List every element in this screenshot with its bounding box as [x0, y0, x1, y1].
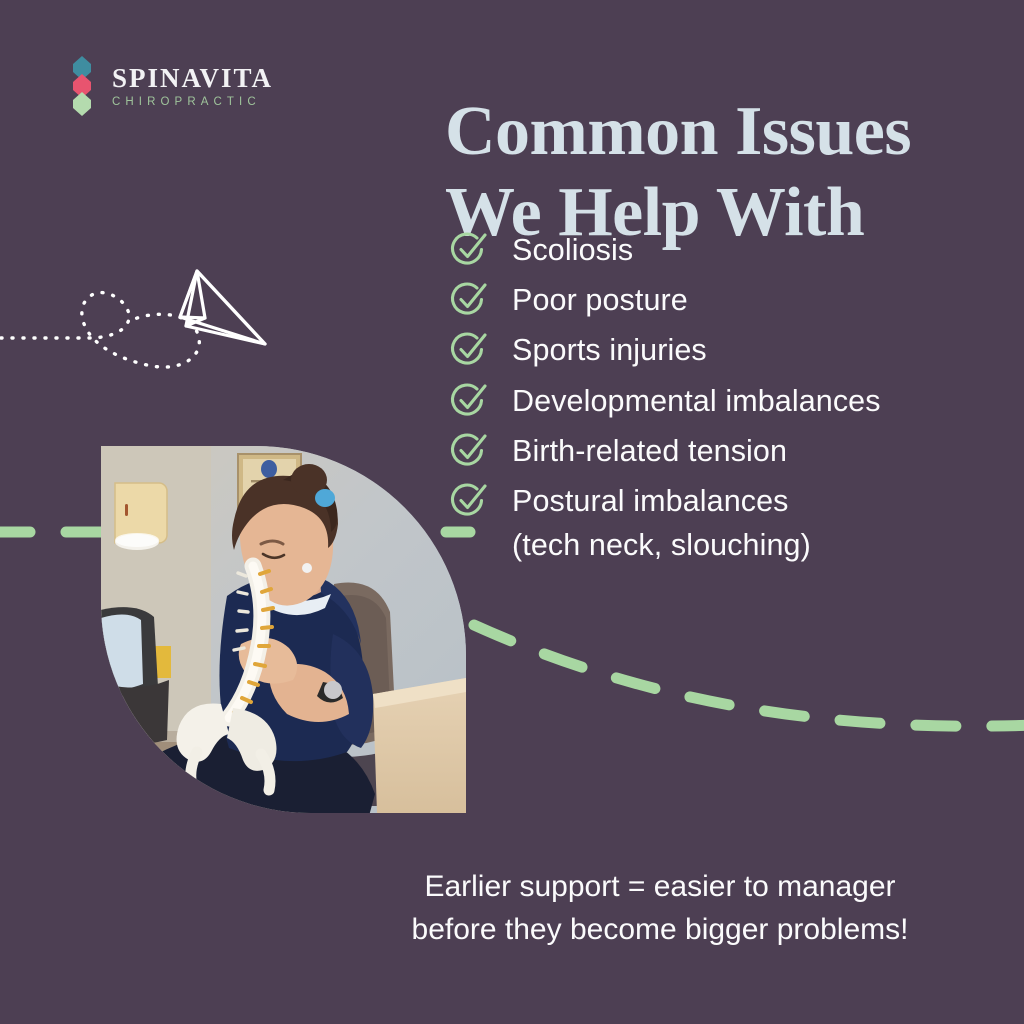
- green-dashed-curve-right: [474, 625, 1024, 726]
- footer-message: Earlier support = easier to manager befo…: [330, 866, 990, 951]
- list-item-sublabel: (tech neck, slouching): [512, 523, 811, 567]
- check-circle-icon: [447, 281, 491, 319]
- list-item: Birth-related tension: [447, 429, 1007, 473]
- footer-line-1: Earlier support = easier to manager: [330, 866, 990, 909]
- list-item: Poor posture: [447, 278, 1007, 322]
- page-title-line-1: Common Issues: [445, 91, 985, 172]
- check-circle-icon: [447, 231, 491, 269]
- footer-line-2: before they become bigger problems!: [330, 909, 990, 952]
- list-item-label: Developmental imbalances: [512, 379, 881, 423]
- issues-checklist: Scoliosis Poor posture Sports injuries: [447, 228, 1007, 574]
- logo-wordmark: SPINAVITA CHIROPRACTIC: [112, 65, 273, 109]
- list-item-label: Postural imbalances (tech neck, slouchin…: [512, 479, 811, 567]
- clinic-photo: [101, 446, 466, 813]
- check-circle-icon: [447, 382, 491, 420]
- list-item: Postural imbalances (tech neck, slouchin…: [447, 479, 1007, 567]
- list-item: Sports injuries: [447, 328, 1007, 372]
- dotted-loop-trail: [0, 293, 199, 367]
- paper-plane-icon: [180, 271, 265, 344]
- logo-name: SPINAVITA: [112, 65, 273, 92]
- logo-subtitle: CHIROPRACTIC: [112, 97, 273, 109]
- list-item: Developmental imbalances: [447, 379, 1007, 423]
- gem-green-icon: [71, 92, 93, 116]
- check-circle-icon: [447, 331, 491, 369]
- poster-canvas: SPINAVITA CHIROPRACTIC Common Issues We …: [0, 0, 1024, 1024]
- list-item-label: Poor posture: [512, 278, 688, 322]
- clinic-photo-image: [101, 446, 466, 813]
- list-item: Scoliosis: [447, 228, 1007, 272]
- brand-logo[interactable]: SPINAVITA CHIROPRACTIC: [68, 56, 273, 118]
- check-circle-icon: [447, 482, 491, 520]
- list-item-label: Sports injuries: [512, 328, 707, 372]
- logo-mark-icon: [68, 56, 98, 118]
- list-item-label: Birth-related tension: [512, 429, 787, 473]
- check-circle-icon: [447, 432, 491, 470]
- list-item-label: Scoliosis: [512, 228, 633, 272]
